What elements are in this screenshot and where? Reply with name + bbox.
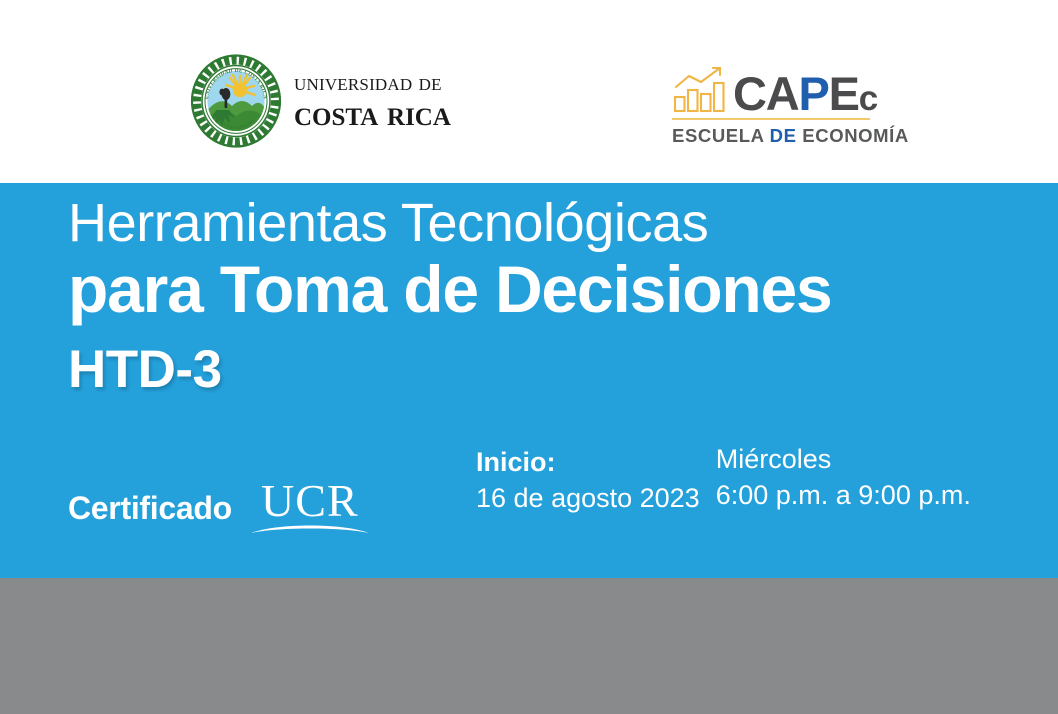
course-title-line1: Herramientas Tecnológicas (68, 195, 831, 252)
capec-name-part4: c (859, 79, 877, 118)
header-logo-strip: UNIVERSIDAD DE COSTA RICA LUCEM ASPICIO … (0, 0, 1058, 183)
course-title-line2: para Toma de Decisiones (68, 254, 831, 325)
ucr-coat-of-arms-seal-icon: UNIVERSIDAD DE COSTA RICA LUCEM ASPICIO (190, 54, 282, 148)
capec-wordmark: CAPEc (733, 71, 877, 116)
capec-tagline-part3: ECONOMÍA (797, 125, 909, 146)
capec-name-row: CAPEc (672, 58, 909, 114)
capec-name-part2: P (798, 67, 828, 120)
schedule-start-date: 16 de agosto 2023 (476, 480, 700, 516)
ucr-certification-text: UCR (261, 478, 359, 524)
ucr-certification-mark: UCR (250, 478, 370, 538)
schedule-time-column: Miércoles 6:00 p.m. a 9:00 p.m. (716, 441, 971, 514)
course-promo-banner: UNIVERSIDAD DE COSTA RICA LUCEM ASPICIO … (0, 0, 1058, 714)
footer-band (0, 578, 1058, 714)
ucr-wordmark: Universidad de Costa Rica (294, 71, 451, 132)
schedule-block: Inicio: 16 de agosto 2023 Miércoles 6:00… (476, 441, 971, 517)
certification-row: Certificado UCR (68, 478, 370, 538)
schedule-time: 6:00 p.m. a 9:00 p.m. (716, 477, 971, 513)
certificate-label: Certificado (68, 490, 232, 527)
schedule-start-column: Inicio: 16 de agosto 2023 (476, 441, 700, 517)
schedule-start-label: Inicio: (476, 444, 700, 480)
capec-name-part1: CA (733, 67, 798, 120)
course-code: HTD-3 (68, 341, 831, 399)
bar-chart-growth-icon (672, 64, 730, 114)
capec-logo-lockup: CAPEc ESCUELA DE ECONOMÍA (672, 58, 909, 147)
ucr-wordmark-line2: Costa Rica (294, 96, 451, 131)
ucr-wordmark-line1: Universidad de (294, 71, 451, 96)
capec-tagline: ESCUELA DE ECONOMÍA (672, 125, 909, 147)
ucr-underline-swoosh-icon (250, 522, 370, 536)
capec-tagline-part2: DE (770, 125, 797, 146)
course-title-block: Herramientas Tecnológicas para Toma de D… (68, 195, 831, 399)
course-info-panel: Herramientas Tecnológicas para Toma de D… (0, 183, 1058, 578)
capec-name-part3: E (829, 67, 859, 120)
ucr-logo-lockup: UNIVERSIDAD DE COSTA RICA LUCEM ASPICIO … (190, 54, 451, 148)
schedule-day: Miércoles (716, 441, 971, 477)
capec-tagline-part1: ESCUELA (672, 125, 770, 146)
